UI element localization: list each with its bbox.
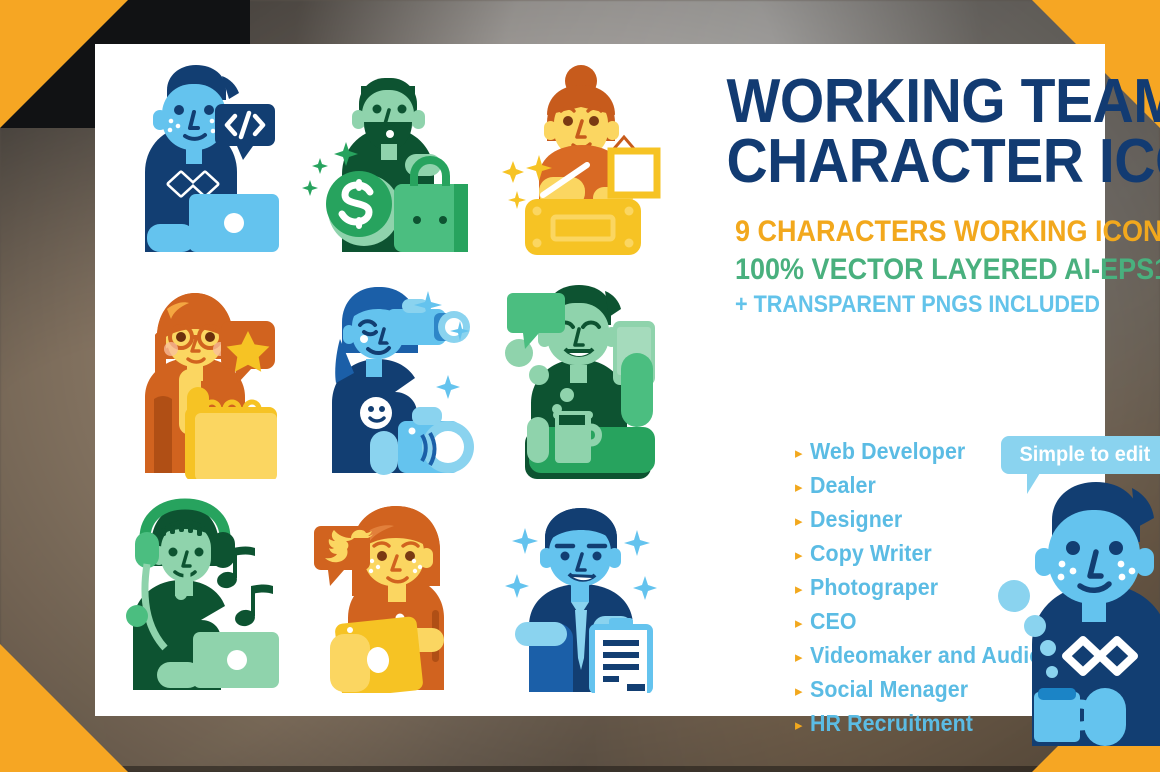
role-label: Dealer	[810, 472, 876, 499]
role-label: Web Developer	[810, 438, 965, 465]
bullet-triangle-icon: ▸	[795, 650, 803, 665]
status-badge: Simple to edit	[1001, 436, 1160, 474]
background-bottom-strip	[0, 766, 1160, 772]
icon-cell-social-manager[interactable]	[293, 487, 486, 704]
bullet-triangle-icon: ▸	[795, 548, 803, 563]
title-line-1: WORKING TEAM	[726, 72, 1088, 132]
subtitle-format: 100% VECTOR LAYERED AI-EPS10	[735, 251, 1095, 289]
bullet-triangle-icon: ▸	[795, 514, 803, 529]
role-label: CEO	[810, 608, 857, 635]
icon-cell-videomaker-audio[interactable]	[100, 487, 293, 704]
preview-card: WORKING TEAM CHARACTER ICONS 9 CHARACTER…	[95, 44, 1105, 716]
text-column: WORKING TEAM CHARACTER ICONS 9 CHARACTER…	[695, 72, 1095, 322]
bullet-triangle-icon: ▸	[795, 582, 803, 597]
icon-cell-designer[interactable]	[487, 54, 680, 271]
speech-bubble-tail-icon	[1027, 473, 1040, 494]
icon-cell-hr-recruitment[interactable]	[487, 487, 680, 704]
bullet-triangle-icon: ▸	[795, 480, 803, 495]
status-badge-label: Simple to edit	[1020, 443, 1151, 467]
role-label: Copy Writer	[810, 540, 932, 567]
page-title: WORKING TEAM CHARACTER ICONS	[695, 72, 1095, 191]
bullet-triangle-icon: ▸	[795, 684, 803, 699]
role-label: Photograper	[810, 574, 938, 601]
subtitle-extra: + TRANSPARENT PNGS INCLUDED	[735, 288, 1095, 322]
icon-cell-ceo[interactable]	[487, 271, 680, 488]
bullet-triangle-icon: ▸	[795, 446, 803, 461]
title-line-2: CHARACTER ICONS	[726, 132, 1088, 192]
bullet-triangle-icon: ▸	[795, 616, 803, 631]
icon-cell-photographer[interactable]	[293, 271, 486, 488]
bullet-triangle-icon: ▸	[795, 718, 803, 733]
icon-cell-dealer[interactable]	[293, 54, 486, 271]
role-label: HR Recruitment	[810, 710, 973, 737]
icon-cell-copy-writer[interactable]	[100, 271, 293, 488]
featured-character-illustration	[990, 476, 1160, 751]
subtitle-count: 9 CHARACTERS WORKING ICONS	[735, 213, 1095, 251]
role-label: Social Menager	[810, 676, 968, 703]
icon-grid	[100, 54, 680, 704]
role-label: Designer	[810, 506, 902, 533]
icon-cell-web-developer[interactable]	[100, 54, 293, 271]
